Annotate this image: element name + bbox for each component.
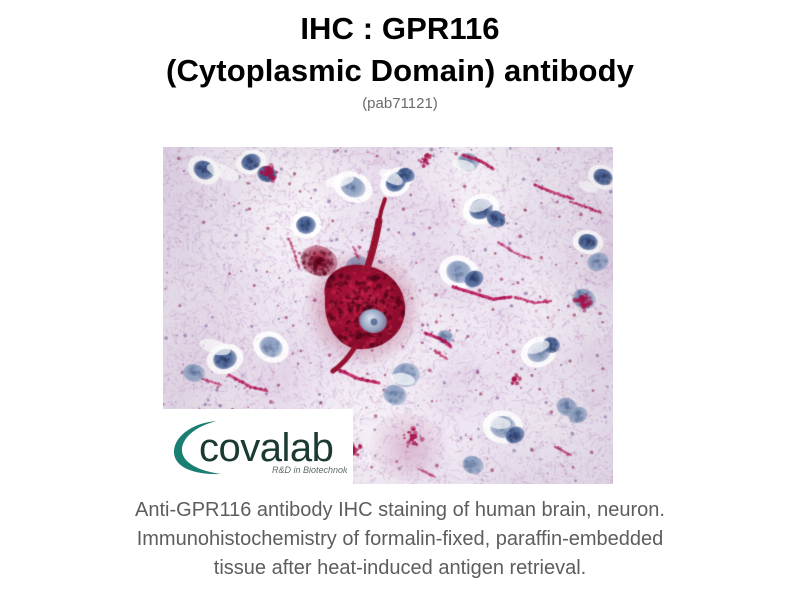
title-line-2: (Cytoplasmic Domain) antibody bbox=[0, 50, 800, 92]
title-block: IHC : GPR116 (Cytoplasmic Domain) antibo… bbox=[0, 8, 800, 114]
covalab-logo-box: covalab R&D in Biotechnology bbox=[163, 409, 353, 484]
figure-root: IHC : GPR116 (Cytoplasmic Domain) antibo… bbox=[0, 0, 800, 600]
covalab-logo: covalab R&D in Biotechnology bbox=[163, 409, 353, 484]
logo-tagline: R&D in Biotechnology bbox=[272, 465, 347, 475]
caption-line-1: Anti-GPR116 antibody IHC staining of hum… bbox=[0, 496, 800, 525]
logo-wordmark: covalab bbox=[199, 426, 333, 470]
caption-block: Anti-GPR116 antibody IHC staining of hum… bbox=[0, 496, 800, 583]
caption-line-2: Immunohistochemistry of formalin-fixed, … bbox=[0, 525, 800, 554]
covalab-logo-svg: covalab R&D in Biotechnology bbox=[169, 415, 347, 479]
catalog-number: (pab71121) bbox=[0, 94, 800, 114]
caption-line-3: tissue after heat-induced antigen retrie… bbox=[0, 554, 800, 583]
title-line-1: IHC : GPR116 bbox=[0, 8, 800, 50]
